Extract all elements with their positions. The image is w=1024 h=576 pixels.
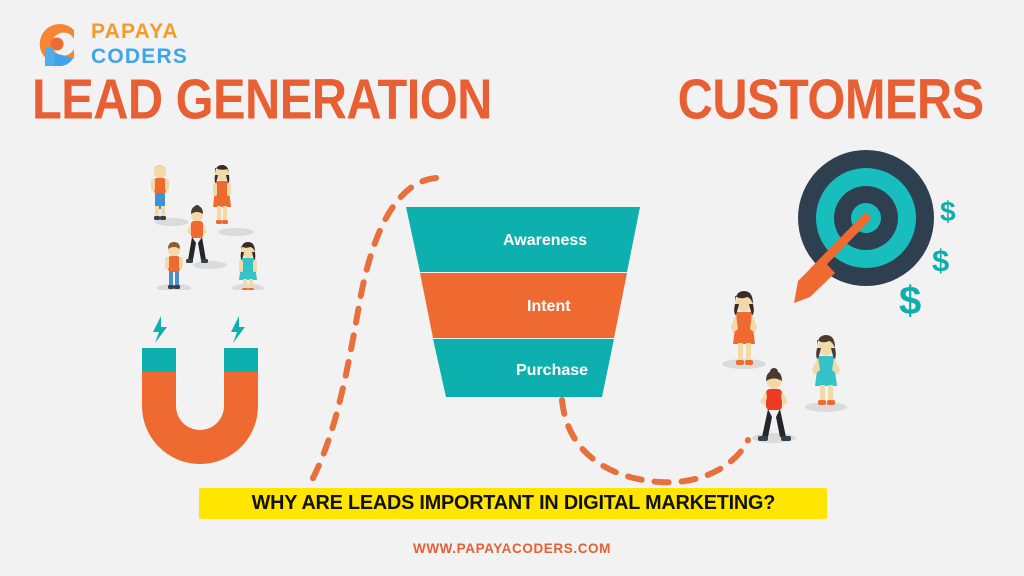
funnel-label-intent: Intent [527, 298, 571, 316]
people-group-customers [708, 272, 868, 452]
funnel-label-awareness: Awareness [503, 232, 587, 250]
website-url[interactable]: WWW.PAPAYACODERS.COM [0, 541, 1024, 556]
dollar-sign-icon-3: $ [899, 279, 921, 324]
brand-name-line2: CODERS [91, 46, 188, 67]
papaya-coders-logo-icon [30, 18, 82, 70]
brand-logo[interactable]: PAPAYA CODERS [30, 18, 188, 70]
horseshoe-magnet-icon [130, 310, 270, 470]
heading-customers: CUSTOMERS [678, 66, 984, 132]
dollar-sign-icon-2: $ [932, 243, 949, 279]
funnel-stage-intent [420, 273, 627, 338]
heading-lead-generation: LEAD GENERATION [32, 66, 492, 132]
question-banner-text: WHY ARE LEADS IMPORTANT IN DIGITAL MARKE… [251, 492, 774, 515]
question-banner: WHY ARE LEADS IMPORTANT IN DIGITAL MARKE… [199, 488, 827, 519]
dollar-sign-icon-1: $ [940, 196, 956, 228]
people-group-leads [132, 160, 272, 290]
funnel-label-purchase: Purchase [516, 362, 588, 380]
brand-name-line1: PAPAYA [91, 21, 188, 42]
infographic-canvas: PAPAYA CODERS LEAD GENERATION CUSTOMERS [0, 0, 1024, 576]
brand-name: PAPAYA CODERS [91, 21, 188, 67]
